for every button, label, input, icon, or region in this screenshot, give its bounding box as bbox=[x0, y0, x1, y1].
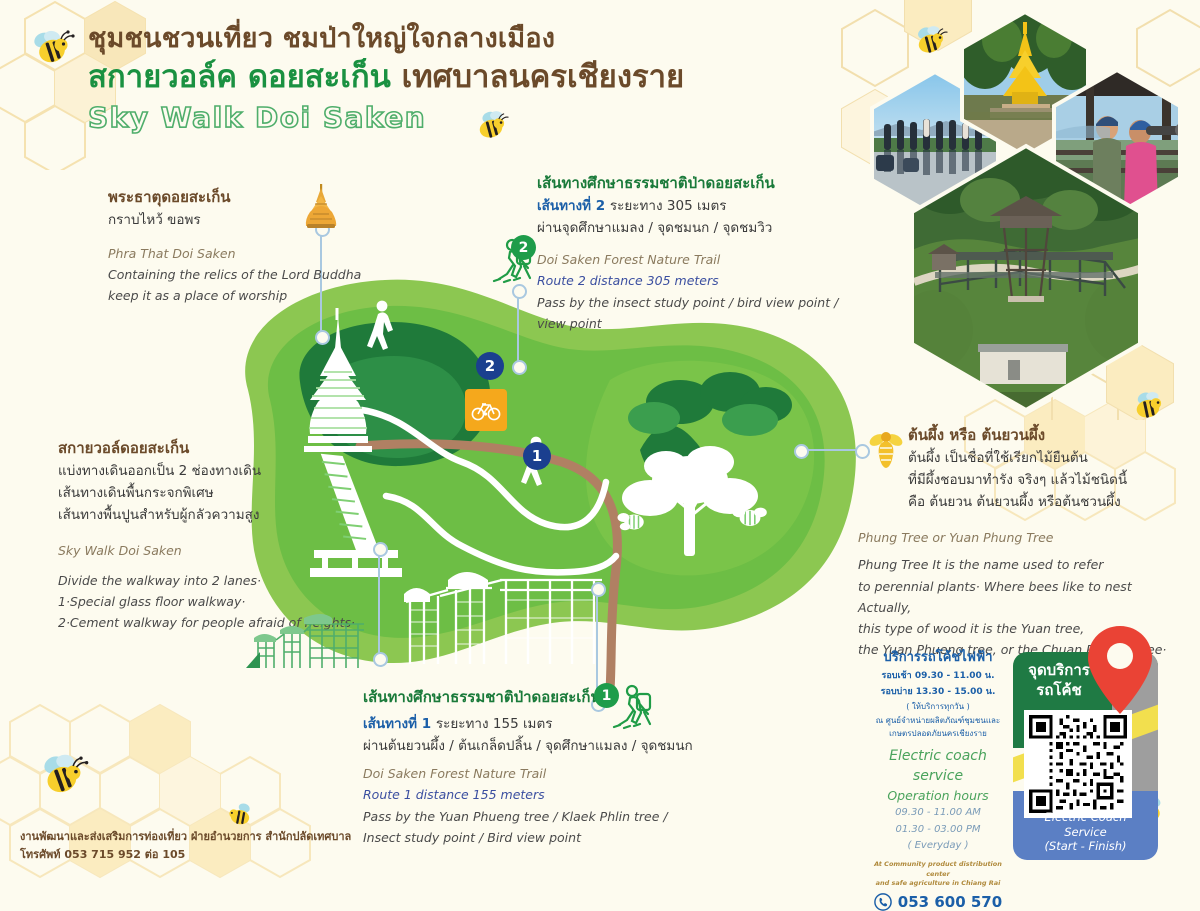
route2-th-l1a: เส้นทางที่ 2 bbox=[537, 198, 610, 214]
map-marker-2[interactable]: 2 bbox=[476, 352, 504, 380]
pagoda-icon bbox=[300, 182, 342, 228]
route2-badge[interactable]: 2 bbox=[511, 235, 536, 260]
phrathat-th-sub: กราบไหว้ ขอพร bbox=[108, 209, 418, 231]
phungtree-th-l3: คือ ต้นยวน ต้นยวนผึ้ง หรือต้นชวนผึ้ง bbox=[908, 491, 1198, 513]
skywalk-th-title: สกายวอล์ดอยสะเก็น bbox=[58, 437, 378, 460]
title-line2-brown: เทศบาลนครเชียงราย bbox=[402, 59, 685, 95]
poster-root: ชุมชนชวนเที่ยว ชมป่าใหญ่ใจกลางเมือง สกาย… bbox=[0, 0, 1200, 880]
title-line2-green: สกายวอล์ค ดอยสะเก็น bbox=[88, 59, 391, 95]
footer-credit: งานพัฒนาและส่งเสริมการท่องเที่ยว ฝ่ายอำน… bbox=[20, 828, 351, 863]
skywalk-en-l1: Divide the walkway into 2 lanes· bbox=[58, 570, 378, 591]
route2-en-l3: view point bbox=[537, 313, 867, 334]
connector-dot-phungtree bbox=[794, 444, 809, 459]
qr-en-line1: Electric Coach bbox=[1013, 810, 1158, 825]
route2-en-title: Doi Saken Forest Nature Trail bbox=[537, 249, 867, 270]
bee-glyph-icon bbox=[866, 428, 906, 470]
bee-icon-right bbox=[1125, 385, 1171, 427]
phungtree-th-l1: ต้นผึ้ง เป็นชื่อที่ใช้เรียกไม้ยืนต้น bbox=[908, 447, 1198, 469]
coach-en-x2: and safe agriculture in Chiang Rai bbox=[862, 879, 1014, 889]
route2-th-title: เส้นทางศึกษาธรรมชาติป่าดอยสะเก็น bbox=[537, 172, 867, 195]
route1-th-l1: เส้นทางที่ 1 ระยะทาง 155 เมตร bbox=[363, 713, 723, 735]
skywalk-structure-icon bbox=[246, 612, 376, 674]
bee-icon-title bbox=[470, 105, 512, 147]
title-line2: สกายวอล์ค ดอยสะเก็น เทศบาลนครเชียงราย bbox=[88, 58, 684, 97]
route1-en-l2: Pass by the Yuan Phueng tree / Klaek Phl… bbox=[363, 806, 723, 827]
route1-th-l1a: เส้นทางที่ 1 bbox=[363, 716, 436, 732]
phungtree-en-l1: Phung Tree It is the name used to refer bbox=[858, 554, 1188, 575]
coach-en-t1: 09.30 - 11.00 AM bbox=[862, 805, 1014, 822]
phrathat-th-title: พระธาตุดอยสะเก็น bbox=[108, 186, 418, 209]
bee-icon-bottomleft-small bbox=[222, 798, 258, 832]
connector-route2 bbox=[517, 288, 519, 366]
bee-icon-collage-top bbox=[908, 20, 952, 62]
connector-dot-route2-end bbox=[512, 360, 527, 375]
route1-th-l1b: ระยะทาง 155 เมตร bbox=[436, 716, 553, 732]
coach-en-x1: At Community product distribution center bbox=[862, 860, 1014, 880]
footer-line1: งานพัฒนาและส่งเสริมการท่องเที่ยว ฝ่ายอำน… bbox=[20, 828, 351, 846]
title-line1: ชุมชนชวนเที่ยว ชมป่าใหญ่ใจกลางเมือง bbox=[88, 22, 684, 56]
bee-icon-bottomleft bbox=[34, 748, 92, 802]
coach-th-r5: เกษตรปลอดภัยนครเชียงราย bbox=[862, 727, 1014, 741]
coach-en-title: Electric coach service bbox=[862, 746, 1014, 787]
block-route-2: เส้นทางศึกษาธรรมชาติป่าดอยสะเก็น เส้นทาง… bbox=[537, 172, 867, 334]
coach-phone-number: 053 600 570 bbox=[898, 893, 1002, 911]
phrathat-en-l2: keep it as a place of worship bbox=[108, 285, 418, 306]
route2-en-l2: Pass by the insect study point / bird vi… bbox=[537, 292, 867, 313]
connector-route1 bbox=[596, 586, 598, 702]
bee-icon bbox=[28, 24, 76, 72]
phungtree-th-title: ต้นผึ้ง หรือ ต้นยวนผึ้ง bbox=[908, 424, 1198, 447]
route1-en-l3: Insect study point / Bird view point bbox=[363, 827, 723, 848]
skywalk-en-l2: 1·Special glass floor walkway· bbox=[58, 591, 378, 612]
photo-collage bbox=[840, 0, 1200, 420]
route2-en-l1: Route 2 distance 305 meters bbox=[537, 270, 867, 291]
bicycle-sign-icon bbox=[465, 389, 507, 431]
phone-icon bbox=[874, 893, 892, 911]
route1-en-l1: Route 1 distance 155 meters bbox=[363, 784, 723, 805]
block-route-1: เส้นทางศึกษาธรรมชาติป่าดอยสะเก็น เส้นทาง… bbox=[363, 686, 723, 848]
map-marker-1[interactable]: 1 bbox=[523, 442, 551, 470]
phrathat-en-title: Phra That Doi Saken bbox=[108, 243, 418, 264]
coach-phone[interactable]: 053 600 570 bbox=[862, 893, 1014, 911]
block-skywalk: สกายวอล์ดอยสะเก็น แบ่งทางเดินออกเป็น 2 ช… bbox=[58, 437, 378, 633]
route2-th-l1: เส้นทางที่ 2 ระยะทาง 305 เมตร bbox=[537, 195, 867, 217]
coach-th-r2: รอบบ่าย 13.30 - 15.00 น. bbox=[862, 685, 1014, 701]
route2-th-l2: ผ่านจุดศึกษาแมลง / จุดชมนก / จุดชมวิว bbox=[537, 217, 867, 239]
title-line3-en: Sky Walk Doi Saken bbox=[88, 101, 684, 134]
phungtree-en-title: Phung Tree or Yuan Phung Tree bbox=[858, 527, 1188, 548]
coach-en-t3: ( Everyday ) bbox=[862, 838, 1014, 855]
skywalk-th-l1: แบ่งทางเดินออกเป็น 2 ช่องทางเดิน bbox=[58, 460, 378, 482]
block-phra-that: พระธาตุดอยสะเก็น กราบไหว้ ขอพร Phra That… bbox=[108, 186, 418, 307]
skywalk-th-l2: เส้นทางเดินพื้นกระจกพิเศษ bbox=[58, 482, 378, 504]
coach-en-sub: Operation hours bbox=[862, 787, 1014, 806]
phungtree-th-l2: ที่มีผึ้งชอบมาทำรัง จริงๆ แล้วไม้ชนิดนี้ bbox=[908, 469, 1198, 491]
qr-en-line2: Service bbox=[1013, 825, 1158, 840]
connector-dot-phrathat-end bbox=[315, 330, 330, 345]
coach-th-r4: ณ ศูนย์จำหน่ายผลิตภัณฑ์ชุมชนและ bbox=[862, 714, 1014, 728]
coach-th-title: บริการรถโค้ชไฟฟ้า bbox=[862, 648, 1014, 669]
coach-th-r3: ( ให้บริการทุกวัน ) bbox=[862, 700, 1014, 714]
route1-th-title: เส้นทางศึกษาธรรมชาติป่าดอยสะเก็น bbox=[363, 686, 723, 709]
route1-badge[interactable]: 1 bbox=[594, 683, 619, 708]
connector-skywalk bbox=[378, 545, 380, 657]
page-title: ชุมชนชวนเที่ยว ชมป่าใหญ่ใจกลางเมือง สกาย… bbox=[88, 22, 684, 134]
coach-en-t2: 01.30 - 03.00 PM bbox=[862, 822, 1014, 839]
qr-card-en-label: Electric Coach Service (Start - Finish) bbox=[1013, 810, 1158, 854]
route2-th-l1b: ระยะทาง 305 เมตร bbox=[610, 198, 727, 214]
skywalk-en-title: Sky Walk Doi Saken bbox=[58, 540, 378, 561]
qr-code[interactable] bbox=[1024, 710, 1132, 818]
coach-th-r1: รอบเช้า 09.30 - 11.00 น. bbox=[862, 669, 1014, 685]
connector-dot-route1 bbox=[591, 582, 606, 597]
phrathat-en-l1: Containing the relics of the Lord Buddha bbox=[108, 264, 418, 285]
map-pin-icon bbox=[1081, 622, 1159, 718]
route1-th-l2: ผ่านต้นยวนผึ้ง / ต้นเกล็ดปลิ้น / จุดศึกษ… bbox=[363, 735, 723, 757]
qr-en-line3: (Start - Finish) bbox=[1013, 839, 1158, 854]
coach-service-panel: บริการรถโค้ชไฟฟ้า รอบเช้า 09.30 - 11.00 … bbox=[862, 648, 1014, 911]
block-phung-tree: ต้นผึ้ง หรือ ต้นยวนผึ้ง ต้นผึ้ง เป็นชื่อ… bbox=[908, 424, 1198, 513]
footer-line2: โทรศัพท์ 053 715 952 ต่อ 105 bbox=[20, 846, 351, 864]
route1-en-title: Doi Saken Forest Nature Trail bbox=[363, 763, 723, 784]
phungtree-en-l2: to perennial plants· Where bees like to … bbox=[858, 576, 1188, 619]
skywalk-th-l3: เส้นทางพื้นปูนสำหรับผู้กลัวความสูง bbox=[58, 504, 378, 526]
